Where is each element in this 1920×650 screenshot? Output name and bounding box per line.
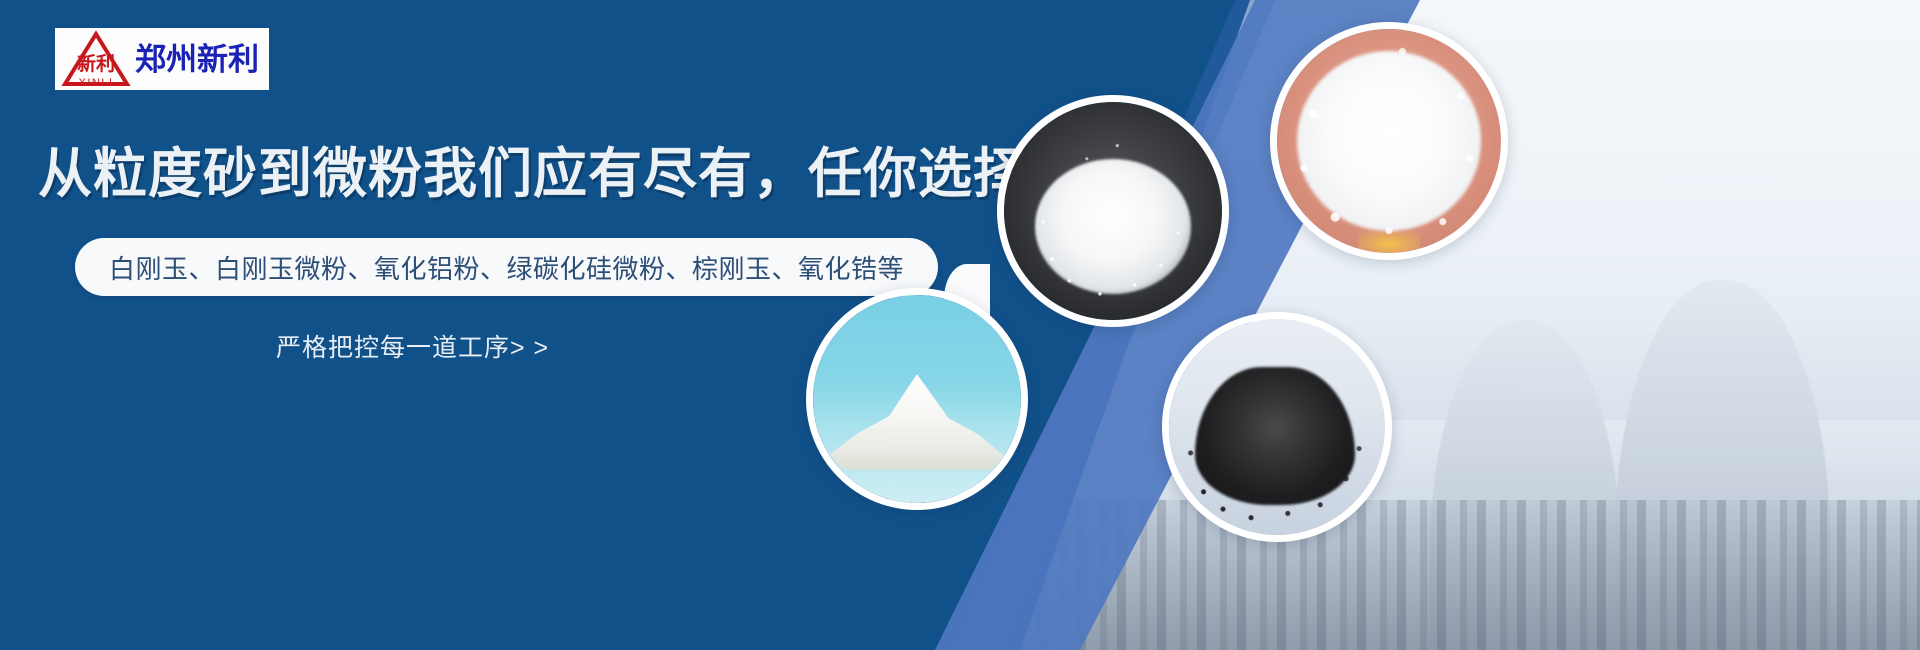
svg-text:XINLI: XINLI: [78, 77, 113, 88]
product-dish: [1277, 29, 1501, 253]
material-specks: [1004, 102, 1222, 320]
product-image-alumina-powder[interactable]: [1270, 22, 1508, 260]
logo[interactable]: 新利 XINLI 郑州新利: [55, 28, 269, 90]
logo-company-name: 郑州新利: [135, 44, 259, 75]
product-image-white-grit[interactable]: [997, 95, 1229, 327]
product-list-pill: 白刚玉、白刚玉微粉、氧化铝粉、绿碳化硅微粉、棕刚玉、氧化锆等: [75, 238, 938, 296]
product-image-micro-powder[interactable]: [806, 288, 1028, 510]
svg-text:新利: 新利: [77, 52, 115, 75]
xinli-triangle-icon: 新利 XINLI: [61, 30, 131, 88]
product-dish: [1169, 319, 1385, 535]
material-specks: [1277, 29, 1501, 253]
product-list-text: 白刚玉、白刚玉微粉、氧化铝粉、绿碳化硅微粉、棕刚玉、氧化锆等: [109, 249, 904, 286]
material-heap: [830, 374, 1005, 470]
cta-link[interactable]: 严格把控每一道工序> >: [276, 328, 549, 364]
product-dish: [813, 295, 1021, 503]
promo-banner: 新利 XINLI 郑州新利 从粒度砂到微粉我们应有尽有，任你选择 白刚玉、白刚玉…: [0, 0, 1920, 650]
product-dish: [1004, 102, 1222, 320]
material-specks: [1169, 319, 1385, 535]
product-image-black-sic[interactable]: [1162, 312, 1392, 542]
page-title: 从粒度砂到微粉我们应有尽有，任你选择: [38, 146, 1028, 203]
